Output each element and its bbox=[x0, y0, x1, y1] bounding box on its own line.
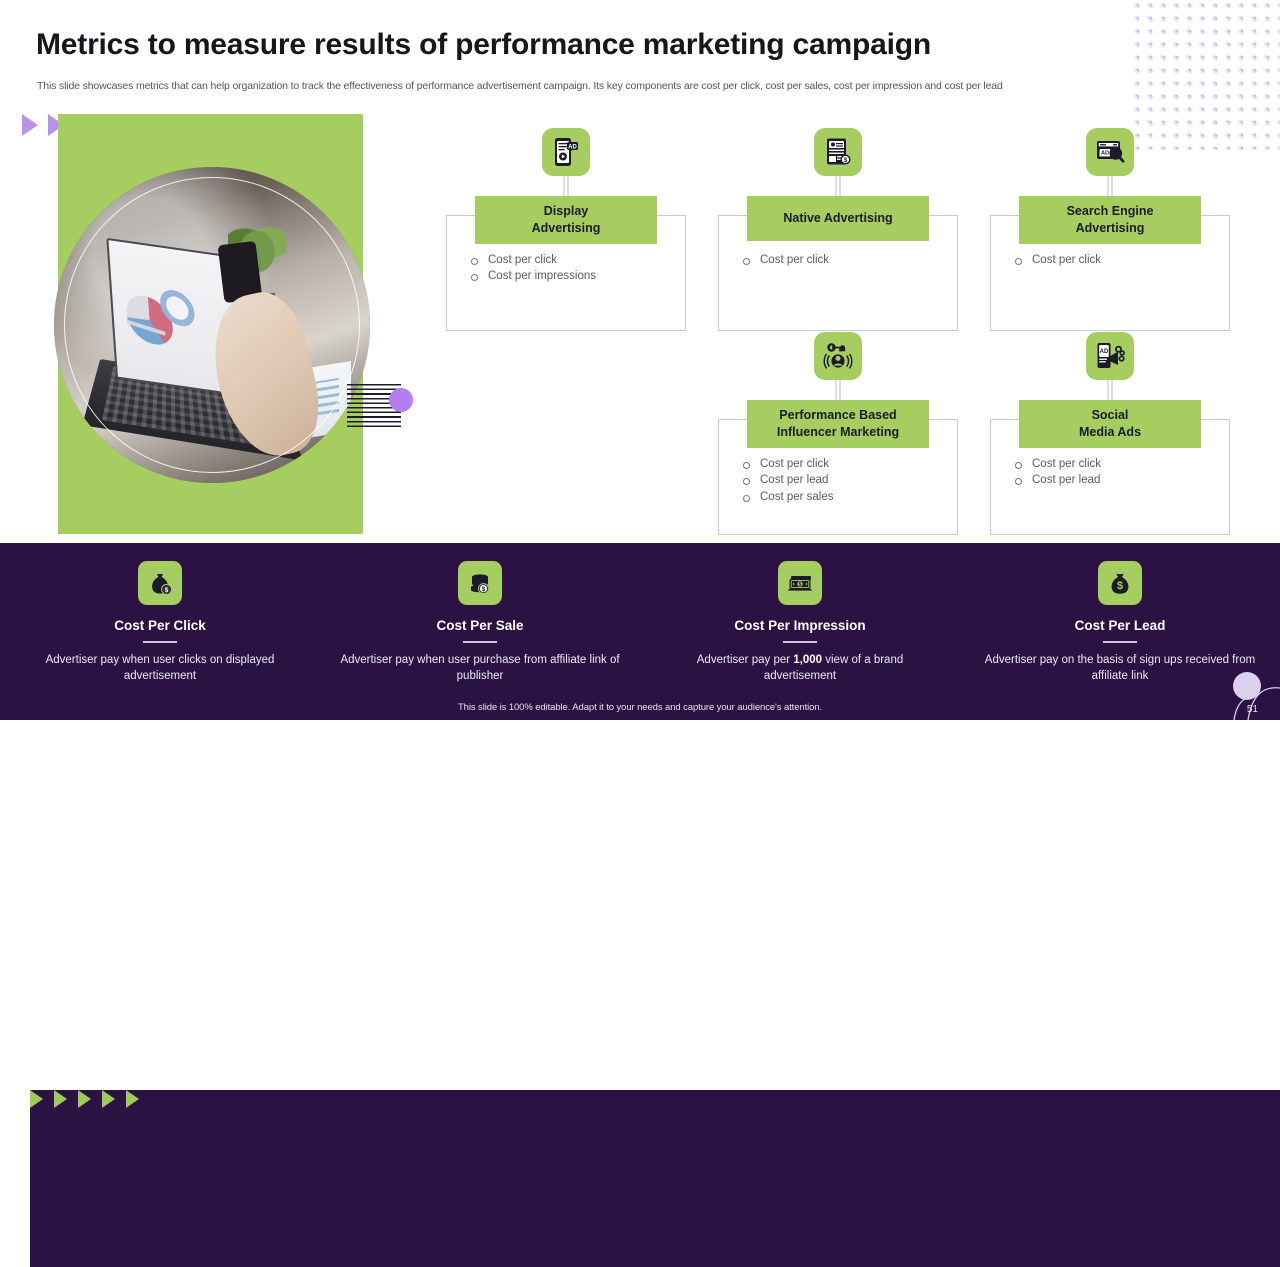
list-item: Cost per click bbox=[1014, 252, 1101, 268]
connector-stem bbox=[1108, 380, 1113, 402]
footer-metric-desc: Advertiser pay when user purchase from a… bbox=[340, 652, 620, 684]
card-list: Cost per click Cost per lead Cost per sa… bbox=[742, 456, 834, 505]
triangle-decoration-footer bbox=[30, 1090, 1280, 1267]
triangle-icon bbox=[102, 1090, 115, 1108]
money-bag-dollar-icon: $ bbox=[1098, 561, 1142, 605]
svg-text:$: $ bbox=[844, 157, 848, 164]
list-item: Cost per click bbox=[1014, 456, 1101, 472]
article-ad-dollar-icon: $ bbox=[814, 128, 862, 176]
coin-stack-dollar-icon: $ bbox=[458, 561, 502, 605]
footer-divider bbox=[783, 641, 817, 643]
card-list: Cost per click Cost per impressions bbox=[470, 252, 596, 285]
card-label-line1: Display bbox=[479, 203, 653, 220]
card-label-line2: Advertising bbox=[479, 220, 653, 237]
browser-ad-search-icon: AD bbox=[1086, 128, 1134, 176]
card-label-line1: Native Advertising bbox=[751, 210, 925, 227]
footer-metric-cost-per-impression[interactable]: $ Cost Per Impression Advertiser pay per… bbox=[640, 561, 960, 684]
influencer-thumbs-up-icon bbox=[814, 332, 862, 380]
cash-banknote-icon: $ bbox=[778, 561, 822, 605]
page-subtitle: This slide showcases metrics that can he… bbox=[37, 80, 1197, 92]
card-label-line2: Media Ads bbox=[1023, 424, 1197, 441]
triangle-icon bbox=[30, 1090, 43, 1108]
footer-metric-desc: Advertiser pay on the basis of sign ups … bbox=[980, 652, 1260, 684]
card-label-social-media-ads: Social Media Ads bbox=[1019, 400, 1201, 448]
footer-metric-title: Cost Per Click bbox=[114, 618, 206, 633]
desc-before: Advertiser pay when user clicks on displ… bbox=[46, 654, 275, 682]
footer-divider bbox=[1103, 641, 1137, 643]
card-label-line1: Search Engine bbox=[1023, 203, 1197, 220]
triangle-icon bbox=[78, 1090, 91, 1108]
card-label-performance-based-influencer-marketing: Performance Based Influencer Marketing bbox=[747, 400, 929, 448]
svg-text:AD: AD bbox=[568, 144, 577, 150]
triangle-icon bbox=[126, 1090, 139, 1108]
list-item: Cost per click bbox=[742, 252, 829, 268]
photo-background bbox=[54, 167, 370, 483]
card-label-line2: Influencer Marketing bbox=[751, 424, 925, 441]
connector-stem bbox=[564, 176, 569, 198]
footer-divider bbox=[463, 641, 497, 643]
list-item: Cost per click bbox=[470, 252, 596, 268]
footer-metric-title: Cost Per Lead bbox=[1075, 618, 1166, 633]
dot-grid-icon bbox=[1130, 0, 1280, 150]
list-item: Cost per click bbox=[742, 456, 834, 472]
footer-metric-cost-per-click[interactable]: $ Cost Per Click Advertiser pay when use… bbox=[0, 561, 320, 684]
triangle-icon bbox=[22, 114, 38, 136]
footer-metric-desc: Advertiser pay when user clicks on displ… bbox=[20, 652, 300, 684]
footer-metric-title: Cost Per Sale bbox=[436, 618, 523, 633]
svg-text:$: $ bbox=[1117, 580, 1123, 592]
purple-circle-decoration bbox=[389, 388, 413, 412]
desc-before: Advertiser pay when user purchase from a… bbox=[340, 654, 619, 682]
footer-metric-desc: Advertiser pay per 1,000 view of a brand… bbox=[660, 652, 940, 684]
desc-emphasis: 1,000 bbox=[793, 654, 822, 666]
corner-circle-decoration bbox=[1233, 672, 1261, 700]
connector-stem bbox=[836, 176, 841, 198]
footer-divider bbox=[143, 641, 177, 643]
card-label-line1: Social bbox=[1023, 407, 1197, 424]
mobile-ad-video-icon: AD bbox=[542, 128, 590, 176]
list-item: Cost per impressions bbox=[470, 268, 596, 284]
card-label-search-engine-advertising: Search Engine Advertising bbox=[1019, 196, 1201, 244]
card-label-line1: Performance Based bbox=[751, 407, 925, 424]
triangle-icon bbox=[54, 1090, 67, 1108]
megaphone-ad-icon: AD bbox=[1086, 332, 1134, 380]
footer-metric-cost-per-sale[interactable]: $ Cost Per Sale Advertiser pay when user… bbox=[320, 561, 640, 684]
svg-text:AD: AD bbox=[1100, 349, 1109, 355]
desc-before: Advertiser pay on the basis of sign ups … bbox=[985, 654, 1255, 682]
footer-metric-list: $ Cost Per Click Advertiser pay when use… bbox=[0, 561, 1280, 684]
footer-metric-cost-per-lead[interactable]: $ Cost Per Lead Advertiser pay on the ba… bbox=[960, 561, 1280, 684]
svg-text:AD: AD bbox=[1101, 151, 1109, 157]
card-list: Cost per click bbox=[1014, 252, 1101, 268]
card-label-line2: Advertising bbox=[1023, 220, 1197, 237]
page-title: Metrics to measure results of performanc… bbox=[36, 28, 931, 62]
svg-text:$: $ bbox=[799, 582, 802, 588]
hero-photo bbox=[54, 167, 370, 483]
card-list: Cost per click bbox=[742, 252, 829, 268]
footer-note: This slide is 100% editable. Adapt it to… bbox=[0, 702, 1280, 713]
footer-metric-title: Cost Per Impression bbox=[734, 618, 865, 633]
list-item: Cost per sales bbox=[742, 489, 834, 505]
card-list: Cost per click Cost per lead bbox=[1014, 456, 1101, 489]
list-item: Cost per lead bbox=[1014, 472, 1101, 488]
page-number: 51 bbox=[1247, 704, 1258, 715]
money-bag-coin-icon: $ bbox=[138, 561, 182, 605]
list-item: Cost per lead bbox=[742, 472, 834, 488]
card-label-native-advertising: Native Advertising bbox=[747, 196, 929, 241]
desc-before: Advertiser pay per bbox=[697, 654, 794, 666]
footer-panel: $ Cost Per Click Advertiser pay when use… bbox=[0, 543, 1280, 720]
connector-stem bbox=[836, 380, 841, 402]
connector-stem bbox=[1108, 176, 1113, 198]
card-label-display-advertising: Display Advertising bbox=[475, 196, 657, 244]
